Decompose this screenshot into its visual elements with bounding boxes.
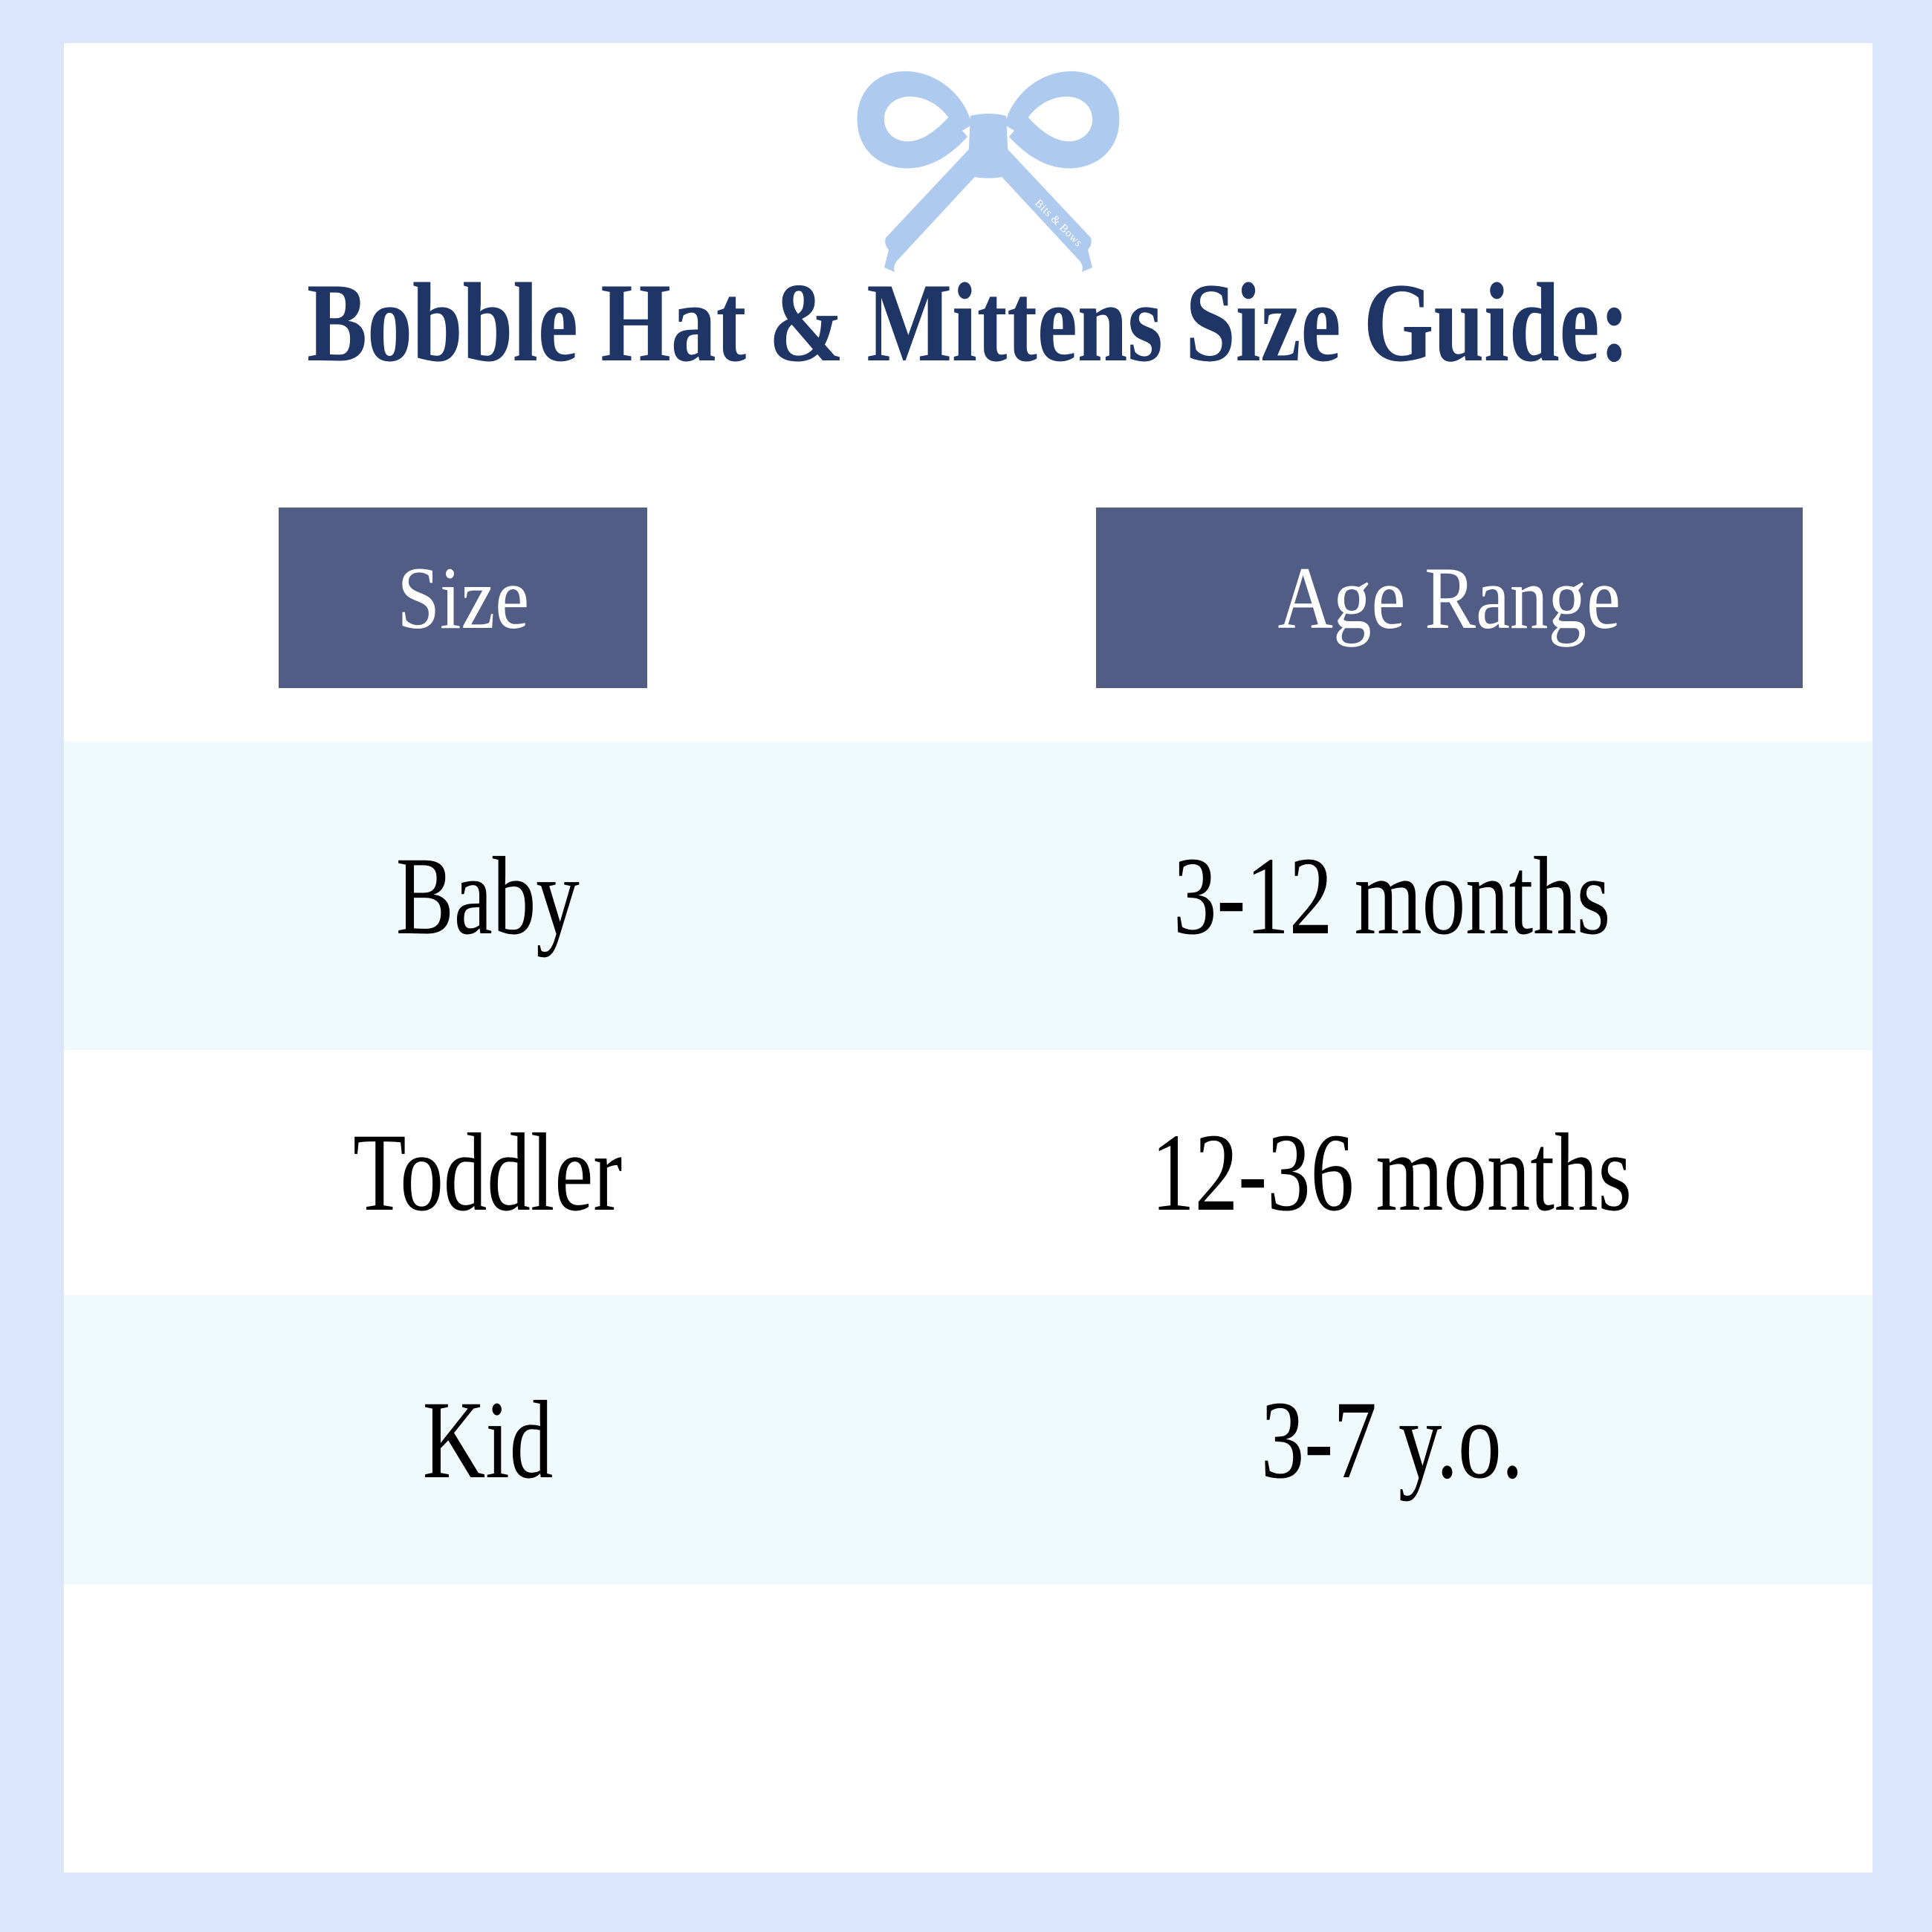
column-header-size: Size xyxy=(279,508,647,688)
cell-size: Toddler xyxy=(64,1117,911,1228)
column-header-age-range: Age Range xyxy=(1096,508,1803,688)
size-table-body: Baby 3-12 months Toddler 12-36 months Ki… xyxy=(64,742,1873,1584)
cell-age-range-value: 12-36 months xyxy=(1152,1117,1633,1228)
cell-size-value: Kid xyxy=(422,1384,553,1496)
cell-size-value: Toddler xyxy=(353,1117,622,1228)
size-guide-page: Bits & Bows Bobble Hat & Mittens Size Gu… xyxy=(0,0,1932,1932)
cell-age-range: 3-7 y.o. xyxy=(911,1384,1873,1496)
column-header-size-label: Size xyxy=(397,554,529,643)
cell-age-range: 3-12 months xyxy=(911,840,1873,952)
ribbon-bow-icon: Bits & Bows xyxy=(840,45,1137,290)
cell-age-range-value: 3-7 y.o. xyxy=(1260,1384,1523,1496)
cell-size: Kid xyxy=(64,1384,911,1496)
table-footer-space xyxy=(64,1584,1873,1873)
content-canvas: Bits & Bows Bobble Hat & Mittens Size Gu… xyxy=(64,43,1873,1873)
cell-age-range: 12-36 months xyxy=(911,1117,1873,1228)
table-row: Kid 3-7 y.o. xyxy=(64,1295,1873,1584)
table-row: Toddler 12-36 months xyxy=(64,1050,1873,1295)
cell-size-value: Baby xyxy=(396,840,580,952)
cell-age-range-value: 3-12 months xyxy=(1173,840,1610,952)
table-row: Baby 3-12 months xyxy=(64,742,1873,1050)
column-header-age-range-label: Age Range xyxy=(1278,554,1621,643)
page-title: Bobble Hat & Mittens Size Guide: xyxy=(244,266,1691,379)
cell-size: Baby xyxy=(64,840,911,952)
